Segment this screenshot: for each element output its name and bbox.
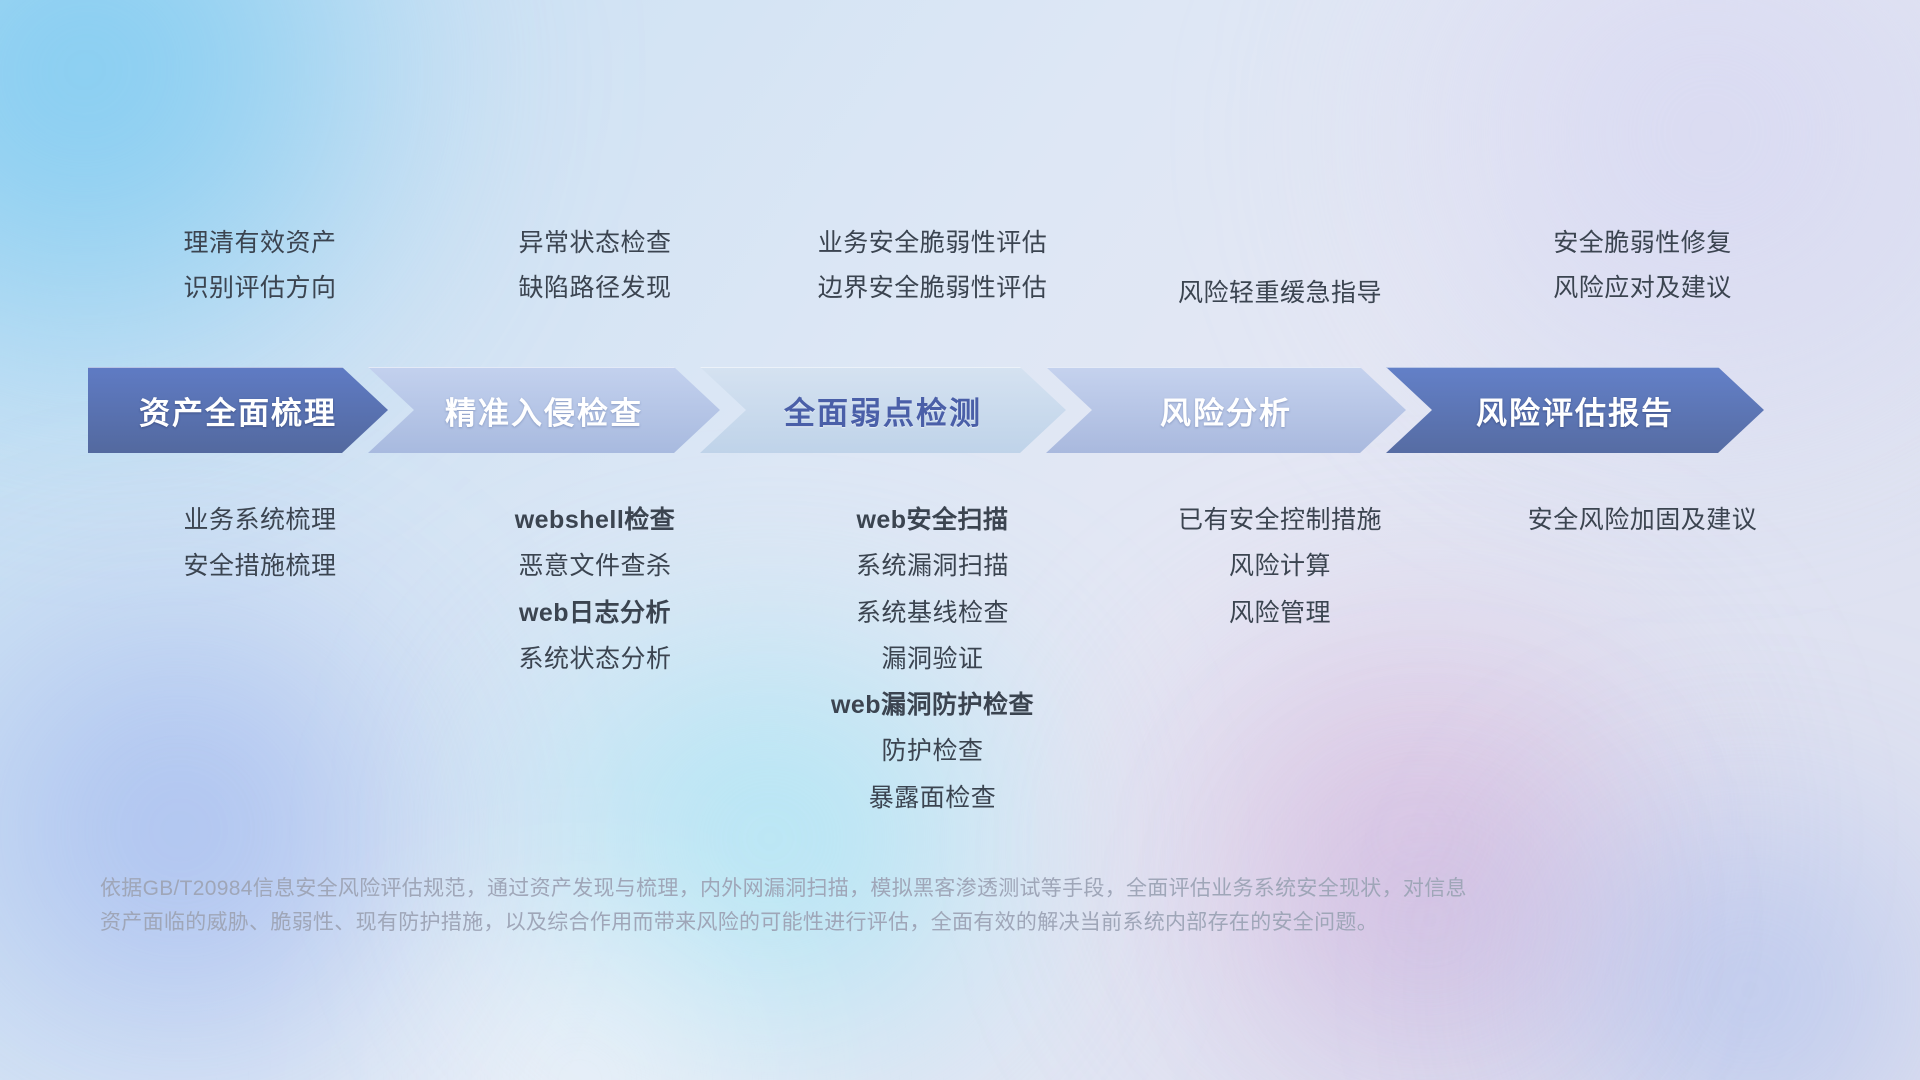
bottom-label: 安全措施梳理 [183,551,336,582]
chevron-stage-3[interactable]: 全面弱点检测 [700,367,1066,453]
bottom-labels-stage-3: web安全扫描 系统漏洞扫描 系统基线检查 漏洞验证 web漏洞防护检查 防护检… [760,505,1105,814]
chevron-stage-2[interactable]: 精准入侵检查 [368,367,720,453]
top-label: 理清有效资产 [183,228,336,259]
bottom-label: web漏洞防护检查 [831,690,1034,721]
top-labels-stage-5: 安全脆弱性修复 风险应对及建议 [1455,228,1830,338]
bottom-label: 系统基线检查 [856,598,1009,629]
chevron-label: 风险分析 [1160,388,1292,433]
bottom-label: 恶意文件查杀 [518,551,671,582]
bottom-label: 安全风险加固及建议 [1528,505,1758,536]
top-label: 风险应对及建议 [1553,273,1732,304]
bottom-labels-stage-4: 已有安全控制措施 风险计算 风险管理 [1105,505,1455,629]
process-chevron-banner: 资产全面梳理 精准入侵检查 全面弱点检测 风险分析 风险评估报告 [88,367,1910,453]
top-labels-stage-4: 风险轻重缓急指导 [1105,228,1455,338]
bottom-label: 系统状态分析 [518,644,671,675]
bottom-label: web日志分析 [519,598,671,629]
caption-line-2: 资产面临的威胁、脆弱性、现有防护措施，以及综合作用而带来风险的可能性进行评估，全… [100,906,1660,940]
chevron-label: 全面弱点检测 [784,388,982,433]
top-label: 识别评估方向 [183,273,336,304]
top-labels-stage-2: 异常状态检查 缺陷路径发现 [430,228,760,338]
top-label: 安全脆弱性修复 [1553,228,1732,259]
bottom-label-row: 业务系统梳理 安全措施梳理 webshell检查 恶意文件查杀 web日志分析 … [90,505,1830,814]
chevron-label: 精准入侵检查 [445,388,643,433]
bottom-label: 防护检查 [881,736,983,767]
top-label-row: 理清有效资产 识别评估方向 异常状态检查 缺陷路径发现 业务安全脆弱性评估 边界… [90,228,1830,338]
bottom-label: 业务系统梳理 [183,505,336,536]
bottom-labels-stage-1: 业务系统梳理 安全措施梳理 [90,505,430,583]
bottom-label: web安全扫描 [856,505,1008,536]
bottom-label: 系统漏洞扫描 [856,551,1009,582]
diagram-root: 理清有效资产 识别评估方向 异常状态检查 缺陷路径发现 业务安全脆弱性评估 边界… [0,0,1920,1080]
top-label: 缺陷路径发现 [518,273,671,304]
caption-line-1: 依据GB/T20984信息安全风险评估规范，通过资产发现与梳理，内外网漏洞扫描，… [100,872,1660,906]
footer-caption: 依据GB/T20984信息安全风险评估规范，通过资产发现与梳理，内外网漏洞扫描，… [100,872,1660,940]
chevron-label: 风险评估报告 [1476,388,1674,433]
chevron-stage-1[interactable]: 资产全面梳理 [88,367,388,453]
top-label: 边界安全脆弱性评估 [818,273,1048,304]
top-label: 业务安全脆弱性评估 [818,228,1048,259]
bottom-label: 风险管理 [1229,598,1331,629]
top-label: 异常状态检查 [518,228,671,259]
bottom-label: 漏洞验证 [881,644,983,675]
bottom-labels-stage-5: 安全风险加固及建议 [1455,505,1830,536]
bottom-labels-stage-2: webshell检查 恶意文件查杀 web日志分析 系统状态分析 [430,505,760,675]
bottom-label: 暴露面检查 [869,783,997,814]
top-labels-stage-1: 理清有效资产 识别评估方向 [90,228,430,338]
chevron-stage-4[interactable]: 风险分析 [1046,367,1406,453]
top-labels-stage-3: 业务安全脆弱性评估 边界安全脆弱性评估 [760,228,1105,338]
top-label: 风险轻重缓急指导 [1178,278,1382,309]
chevron-stage-5[interactable]: 风险评估报告 [1386,367,1764,453]
chevron-label: 资产全面梳理 [139,388,337,433]
bottom-label: 风险计算 [1229,551,1331,582]
bottom-label: webshell检查 [515,505,676,536]
bottom-label: 已有安全控制措施 [1178,505,1382,536]
